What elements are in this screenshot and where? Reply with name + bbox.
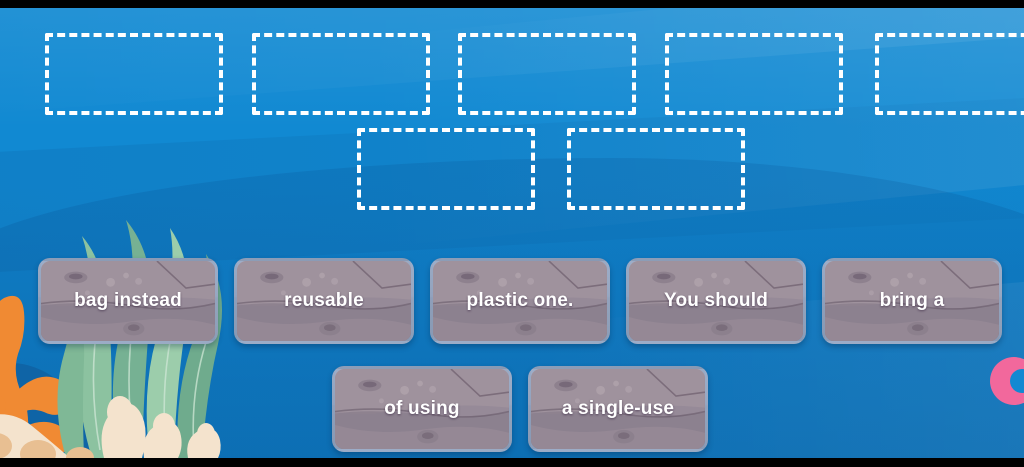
tile-label: a single-use: [562, 398, 674, 420]
tile-label: bring a: [880, 290, 945, 312]
ocean-background: bag instead reusable pla: [0, 8, 1024, 458]
speaker-icon: [1010, 369, 1024, 393]
tile-of-using[interactable]: of using: [332, 366, 512, 452]
tile-plastic-one[interactable]: plastic one.: [430, 258, 610, 344]
game-screen: bag instead reusable pla: [0, 0, 1024, 467]
tile-reusable[interactable]: reusable: [234, 258, 414, 344]
letterbox-bottom: [0, 458, 1024, 467]
word-tile-layer: bag instead reusable pla: [0, 8, 1024, 458]
tile-label: bag instead: [74, 290, 182, 312]
tile-a-single-use[interactable]: a single-use: [528, 366, 708, 452]
tile-label: plastic one.: [467, 290, 574, 312]
tile-label: of using: [384, 398, 459, 420]
tile-bring-a[interactable]: bring a: [822, 258, 1002, 344]
tile-you-should[interactable]: You should: [626, 258, 806, 344]
tile-label: reusable: [284, 290, 364, 312]
letterbox-top: [0, 0, 1024, 8]
tile-label: You should: [664, 290, 768, 312]
tile-bag-instead[interactable]: bag instead: [38, 258, 218, 344]
